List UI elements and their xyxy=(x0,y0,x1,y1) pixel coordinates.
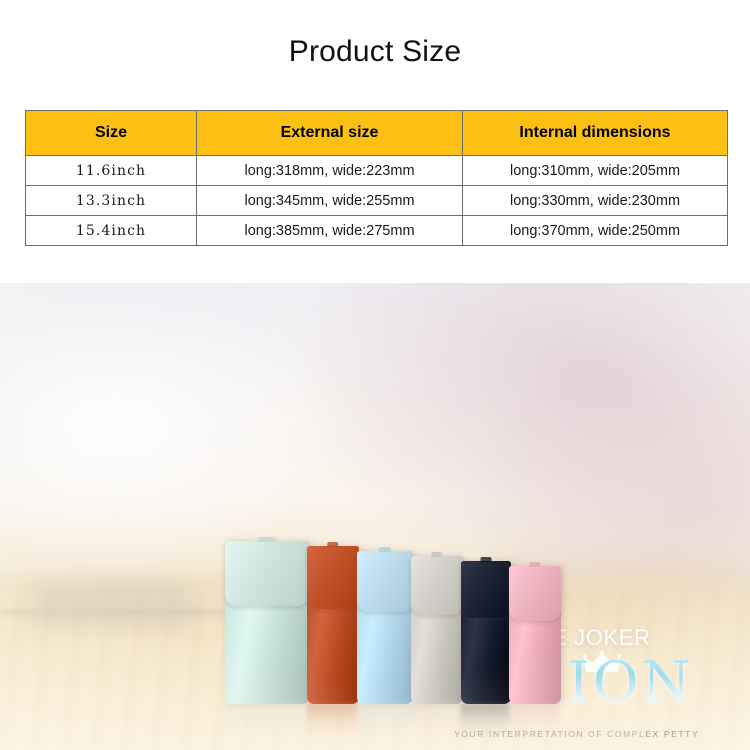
product-sleeve-navy-black xyxy=(461,561,511,704)
sleeve-flap xyxy=(225,541,309,606)
sleeve-reflection xyxy=(509,704,561,744)
product-sleeve-grey xyxy=(411,556,463,704)
sleeve-flap xyxy=(357,551,413,612)
cell-external-size: long:385mm, wide:275mm xyxy=(197,216,463,246)
sleeve-reflection xyxy=(461,704,511,744)
cell-external-size: long:345mm, wide:255mm xyxy=(197,186,463,216)
cell-internal-dimensions: long:310mm, wide:205mm xyxy=(463,156,728,186)
product-sleeve-pink xyxy=(509,566,561,704)
cell-size: 15.4inch xyxy=(26,216,197,246)
sleeve-closure-tab xyxy=(529,562,540,567)
product-size-panel: Product Size Size External size Internal… xyxy=(0,0,750,283)
column-header-internal-dimensions: Internal dimensions xyxy=(463,111,728,156)
column-header-external-size: External size xyxy=(197,111,463,156)
sleeve-reflection xyxy=(307,704,359,744)
table-row: 13.3inch long:345mm, wide:255mm long:330… xyxy=(26,186,728,216)
cell-internal-dimensions: long:330mm, wide:230mm xyxy=(463,186,728,216)
product-sleeve-mint-green xyxy=(225,541,309,704)
cell-size: 13.3inch xyxy=(26,186,197,216)
sleeve-closure-tab xyxy=(431,552,442,557)
product-sleeve-row xyxy=(225,529,645,704)
sleeve-closure-tab xyxy=(258,537,276,542)
sleeve-flap xyxy=(461,561,511,618)
sleeve-flap xyxy=(307,546,359,609)
sleeve-closure-tab xyxy=(481,557,492,562)
sleeve-closure-tab xyxy=(327,542,338,547)
product-reflection xyxy=(225,704,645,750)
cell-size: 11.6inch xyxy=(26,156,197,186)
page-title: Product Size xyxy=(0,35,750,69)
table-row: 11.6inch long:318mm, wide:223mm long:310… xyxy=(26,156,728,186)
product-size-table: Size External size Internal dimensions 1… xyxy=(25,110,728,246)
cell-external-size: long:318mm, wide:223mm xyxy=(197,156,463,186)
table-row: 15.4inch long:385mm, wide:275mm long:370… xyxy=(26,216,728,246)
column-header-size: Size xyxy=(26,111,197,156)
table-header-row: Size External size Internal dimensions xyxy=(26,111,728,156)
sleeve-reflection xyxy=(357,704,413,744)
cell-internal-dimensions: long:370mm, wide:250mm xyxy=(463,216,728,246)
sleeve-reflection xyxy=(411,704,463,744)
sleeve-reflection xyxy=(225,704,309,744)
photo-background-blur-a xyxy=(30,582,195,629)
sleeve-flap xyxy=(411,556,463,615)
product-sleeve-light-blue xyxy=(357,551,413,704)
product-sleeve-rust-orange xyxy=(307,546,359,704)
product-lifestyle-photo: F FASHIONABLE JOKER FASHION YOUR INTERPR… xyxy=(0,283,750,750)
sleeve-flap xyxy=(509,566,561,621)
sleeve-closure-tab xyxy=(379,547,391,552)
